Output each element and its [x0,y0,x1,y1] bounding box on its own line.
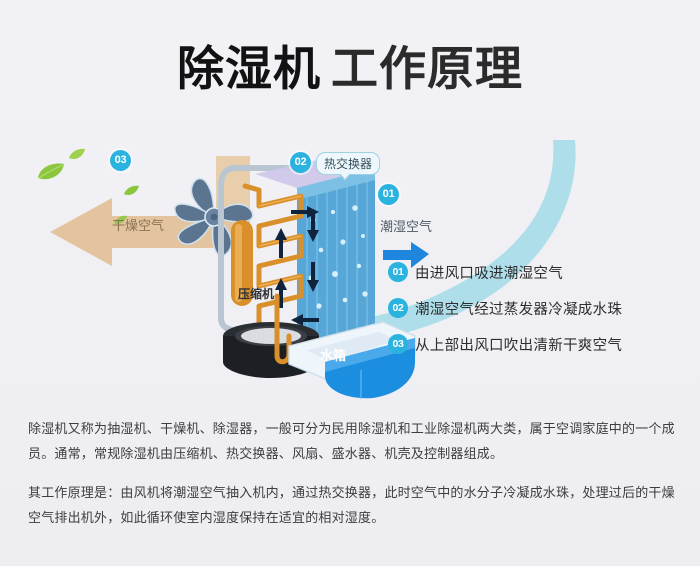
label-humid-air: 潮湿空气 [380,216,432,235]
label-dry-air: 干燥空气 [112,215,164,234]
page-title: 除湿机工作原理 [0,30,700,99]
description-paragraph-1: 除湿机又称为抽湿机、干燥机、除湿器，一般可分为民用除湿机和工业除湿机两大类，属于… [28,416,676,466]
description-block: 除湿机又称为抽湿机、干燥机、除湿器，一般可分为民用除湿机和工业除湿机两大类，属于… [28,416,676,530]
diagram-badge-03: 03 [110,150,131,171]
label-compressor: 压缩机 [238,285,274,302]
leaf-icon [36,162,66,182]
page-root: 除湿机工作原理 [0,0,700,566]
step-list: 01 由进风口吸进潮湿空气 02 潮湿空气经过蒸发器冷凝成水珠 03 从上部出风… [388,254,688,362]
list-item: 02 潮湿空气经过蒸发器冷凝成水珠 [388,290,688,326]
leaf-icon [68,148,86,161]
step-text-02: 潮湿空气经过蒸发器冷凝成水珠 [415,298,622,319]
label-water-tank: 水箱 [320,345,346,364]
step-badge-02: 02 [388,298,408,318]
diagram-badge-01: 01 [378,184,399,205]
step-text-01: 由进风口吸进潮湿空气 [415,262,563,283]
page-title-main: 除湿机 [177,42,321,95]
step-badge-03: 03 [388,334,408,354]
page-title-sub: 工作原理 [331,42,523,95]
step-badge-01: 01 [388,262,408,282]
leaf-icon [123,185,140,197]
description-paragraph-2: 其工作原理是：由风机将潮湿空气抽入机内，通过热交换器，此时空气中的水分子冷凝成水… [28,480,676,530]
heat-exchanger-callout: 热交换器 [316,152,380,175]
list-item: 01 由进风口吸进潮湿空气 [388,254,688,290]
list-item: 03 从上部出风口吹出清新干爽空气 [388,326,688,362]
step-text-03: 从上部出风口吹出清新干爽空气 [415,334,622,355]
diagram-badge-02: 02 [290,152,311,173]
